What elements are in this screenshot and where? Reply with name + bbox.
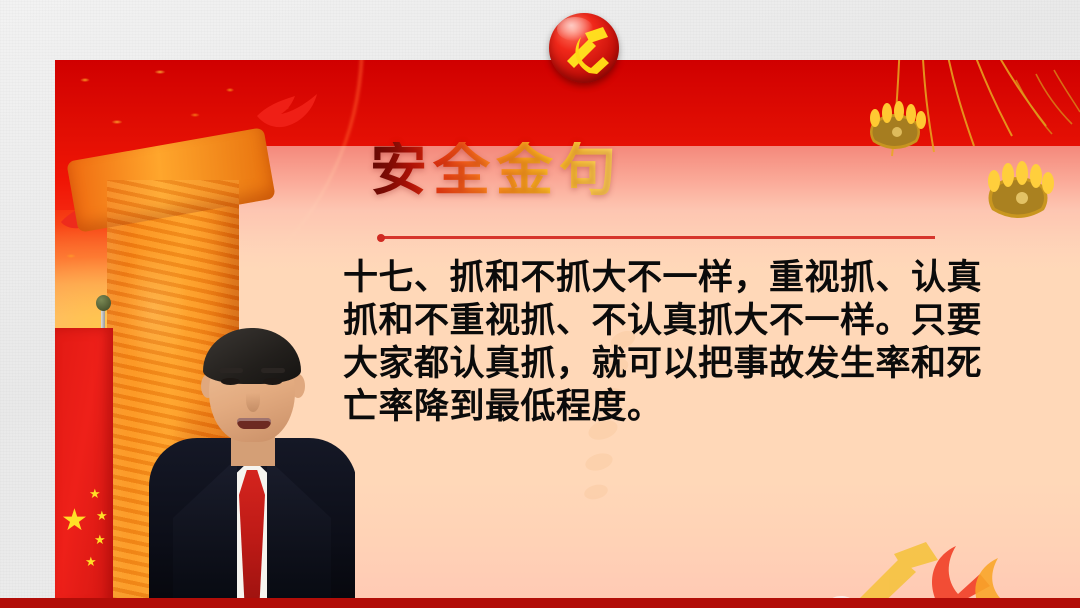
- bottom-accent-bar: [0, 598, 1080, 608]
- title-divider: [380, 236, 935, 239]
- cpc-hammer-sickle-emblem-icon: [549, 13, 619, 83]
- left-decoration-group: ★ ★ ★ ★ ★: [55, 60, 355, 608]
- leader-portrait: [143, 308, 355, 608]
- page-title: 安全金句: [370, 142, 622, 199]
- quote-body-text: 十七、抓和不抓大不一样，重视抓、认真抓和不重视抓、不认真抓大不一样。只要大家都认…: [343, 257, 983, 429]
- presentation-slide: ★ ★ ★ ★ ★: [55, 60, 1080, 608]
- screenshot-canvas: ★ ★ ★ ★ ★: [0, 0, 1080, 608]
- china-flag-icon: ★ ★ ★ ★ ★: [55, 328, 113, 608]
